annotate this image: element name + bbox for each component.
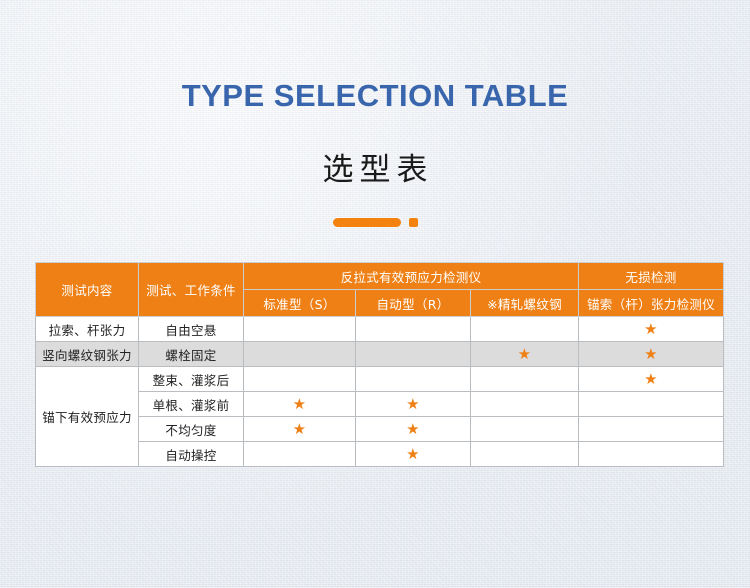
- star-icon: ★: [406, 420, 420, 438]
- cell-mark-empty: [356, 342, 471, 367]
- cell-test-condition: 螺栓固定: [139, 342, 244, 367]
- header-group-nondestructive: 无损检测: [579, 263, 724, 290]
- table-row: 锚下有效预应力整束、灌浆后★: [36, 367, 724, 392]
- cell-mark-empty: [244, 317, 356, 342]
- cell-mark-star: ★: [356, 392, 471, 417]
- header-sub-rebar: ※精轧螺纹钢: [471, 290, 579, 317]
- cell-mark-empty: [471, 392, 579, 417]
- decorative-divider: [0, 216, 750, 228]
- cell-mark-empty: [471, 417, 579, 442]
- cell-test-content: 锚下有效预应力: [36, 367, 139, 467]
- header-test-content: 测试内容: [36, 263, 139, 317]
- star-icon: ★: [518, 345, 532, 363]
- cell-mark-star: ★: [244, 392, 356, 417]
- table-row: 单根、灌浆前★★: [36, 392, 724, 417]
- star-icon: ★: [293, 420, 307, 438]
- cell-test-condition: 不均匀度: [139, 417, 244, 442]
- header-test-condition: 测试、工作条件: [139, 263, 244, 317]
- table-row: 拉索、杆张力自由空悬★: [36, 317, 724, 342]
- cell-mark-star: ★: [579, 342, 724, 367]
- cell-mark-empty: [471, 367, 579, 392]
- cell-mark-empty: [244, 342, 356, 367]
- cell-test-condition: 自动操控: [139, 442, 244, 467]
- cell-mark-star: ★: [244, 417, 356, 442]
- header-sub-anchor-tension: 锚索（杆）张力检测仪: [579, 290, 724, 317]
- cell-test-condition: 自由空悬: [139, 317, 244, 342]
- star-icon: ★: [644, 320, 658, 338]
- star-icon: ★: [644, 345, 658, 363]
- cell-mark-star: ★: [471, 342, 579, 367]
- cell-test-content: 拉索、杆张力: [36, 317, 139, 342]
- header-group-pullback: 反拉式有效预应力检测仪: [244, 263, 579, 290]
- page-content: TYPE SELECTION TABLE 选型表 测试内容 测试、工作条件 反拉…: [0, 0, 750, 588]
- table-body: 拉索、杆张力自由空悬★竖向螺纹钢张力螺栓固定★★锚下有效预应力整束、灌浆后★单根…: [36, 317, 724, 467]
- page-title-chinese: 选型表: [0, 144, 750, 189]
- star-icon: ★: [406, 395, 420, 413]
- star-icon: ★: [406, 445, 420, 463]
- cell-mark-empty: [579, 442, 724, 467]
- cell-test-condition: 整束、灌浆后: [139, 367, 244, 392]
- divider-dot-icon: [409, 218, 418, 227]
- header-sub-automatic: 自动型（R）: [356, 290, 471, 317]
- cell-mark-empty: [579, 417, 724, 442]
- cell-mark-empty: [244, 442, 356, 467]
- selection-table-wrapper: 测试内容 测试、工作条件 反拉式有效预应力检测仪 无损检测 标准型（S） 自动型…: [35, 262, 723, 467]
- star-icon: ★: [644, 370, 658, 388]
- cell-test-condition: 单根、灌浆前: [139, 392, 244, 417]
- cell-mark-empty: [471, 442, 579, 467]
- star-icon: ★: [293, 395, 307, 413]
- page-title-english: TYPE SELECTION TABLE: [0, 78, 750, 114]
- table-header: 测试内容 测试、工作条件 反拉式有效预应力检测仪 无损检测 标准型（S） 自动型…: [36, 263, 724, 317]
- type-selection-table: 测试内容 测试、工作条件 反拉式有效预应力检测仪 无损检测 标准型（S） 自动型…: [35, 262, 724, 467]
- cell-mark-star: ★: [579, 317, 724, 342]
- cell-mark-empty: [471, 317, 579, 342]
- divider-bar-icon: [333, 218, 401, 227]
- cell-test-content: 竖向螺纹钢张力: [36, 342, 139, 367]
- table-row: 竖向螺纹钢张力螺栓固定★★: [36, 342, 724, 367]
- table-header-row-top: 测试内容 测试、工作条件 反拉式有效预应力检测仪 无损检测: [36, 263, 724, 290]
- header-sub-standard: 标准型（S）: [244, 290, 356, 317]
- cell-mark-empty: [244, 367, 356, 392]
- table-row: 自动操控★: [36, 442, 724, 467]
- cell-mark-empty: [356, 367, 471, 392]
- table-row: 不均匀度★★: [36, 417, 724, 442]
- cell-mark-star: ★: [356, 417, 471, 442]
- cell-mark-star: ★: [356, 442, 471, 467]
- cell-mark-star: ★: [579, 367, 724, 392]
- cell-mark-empty: [356, 317, 471, 342]
- cell-mark-empty: [579, 392, 724, 417]
